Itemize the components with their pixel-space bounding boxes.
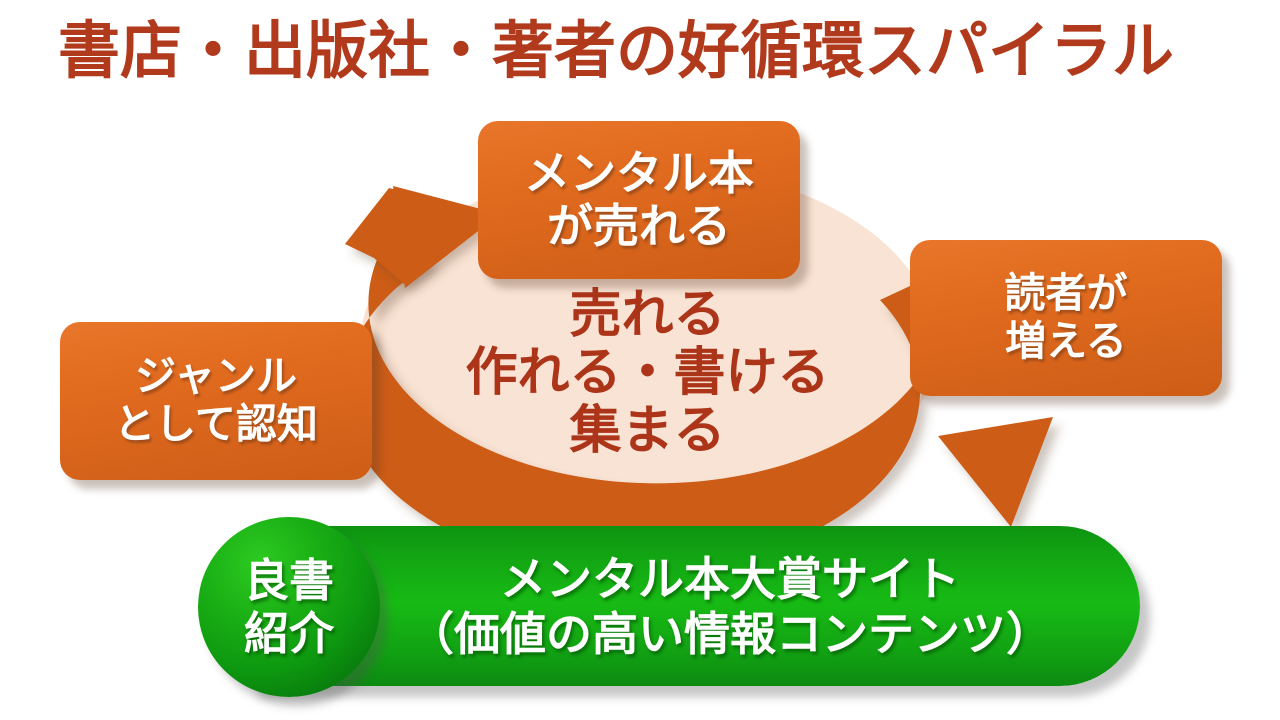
slide-canvas: 書店・出版社・著者の好循環スパイラル <box>0 0 1280 720</box>
node-recognized-genre[interactable]: ジャンル として認知 <box>60 322 372 480</box>
footer-badge[interactable]: 良書 紹介 <box>198 517 380 697</box>
node-readers-increase-line-1: 読者が <box>1005 270 1128 318</box>
node-recognized-genre-line-2: として認知 <box>114 401 318 449</box>
footer-badge-line-1: 良書 <box>244 554 334 607</box>
footer-badge-line-2: 紹介 <box>244 607 334 660</box>
node-readers-increase[interactable]: 読者が 増える <box>910 240 1222 396</box>
node-book-sells-line-1: メンタル本 <box>524 147 754 200</box>
arrowhead-down <box>938 417 1053 527</box>
node-readers-increase-line-2: 増える <box>1005 318 1127 366</box>
footer-bar[interactable] <box>250 526 1140 686</box>
node-book-sells-line-2: が売れる <box>547 200 731 253</box>
node-book-sells[interactable]: メンタル本 が売れる <box>478 121 800 279</box>
node-recognized-genre-line-1: ジャンル <box>135 353 297 401</box>
